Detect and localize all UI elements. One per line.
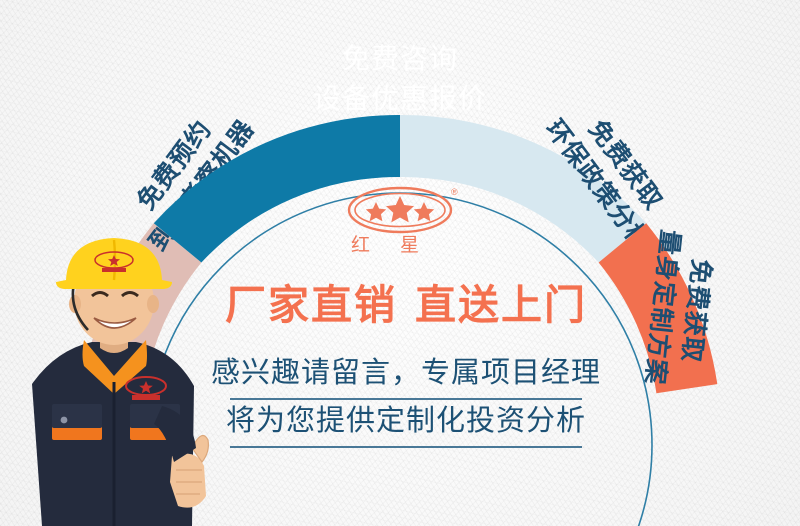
segment-custom[interactable]: 免费获取 量身定制方案 [599,223,719,393]
pocket-left [52,404,102,428]
promo-banner: 免费预约 到厂考察机器 免费咨询 设备优惠报价 免费获取 环保政策分析 免费获取 [0,0,800,526]
segment-consult-line1: 免费咨询 [342,43,458,74]
worker-ear-right [147,295,159,313]
pocket-button-left [61,417,68,424]
segment-consult-line2: 设备优惠报价 [313,83,487,114]
segment-custom-line1: 免费获取 [677,258,717,364]
pocket-flap-left [52,426,102,440]
worker-photo [0,234,232,526]
